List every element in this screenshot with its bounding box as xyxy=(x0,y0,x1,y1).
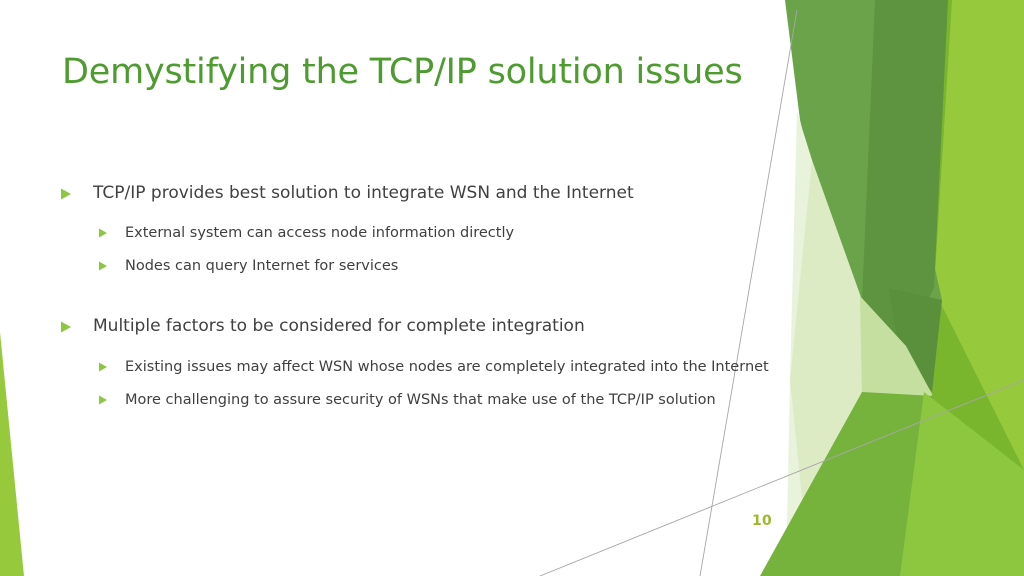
spacer xyxy=(60,211,772,223)
facet-shape-right-green xyxy=(872,0,1024,576)
spacer xyxy=(60,345,772,357)
triangle-bullet-icon xyxy=(60,315,80,333)
triangle-bullet-icon xyxy=(98,256,114,271)
triangle-bullet-icon xyxy=(98,223,114,238)
bullet-level2: Existing issues may affect WSN whose nod… xyxy=(60,357,772,378)
facet-shape-left-sliver xyxy=(0,332,24,576)
facet-shape-dark-band xyxy=(785,0,942,430)
triangle-bullet-icon xyxy=(98,357,114,372)
facet-shape-right-lime xyxy=(882,0,1024,576)
bullet-level2: Nodes can query Internet for services xyxy=(60,256,772,277)
presentation-slide: Demystifying the TCP/IP solution issues … xyxy=(0,0,1024,576)
facet-shape-deep-green-lower xyxy=(888,288,942,392)
facet-shape-pale-mid xyxy=(846,296,932,576)
spacer xyxy=(60,382,772,390)
triangle-bullet-icon xyxy=(98,390,114,405)
bullet-level2-text: More challenging to assure security of W… xyxy=(114,390,772,411)
bullet-level1-text: TCP/IP provides best solution to integra… xyxy=(80,182,772,205)
slide-body: TCP/IP provides best solution to integra… xyxy=(60,182,772,415)
slide-number: 10 xyxy=(752,513,772,529)
triangle-bullet-icon xyxy=(60,182,80,200)
bullet-level2: More challenging to assure security of W… xyxy=(60,390,772,411)
facet-shape-mid-green-sweep xyxy=(760,392,940,576)
bullet-level1: Multiple factors to be considered for co… xyxy=(60,315,772,338)
bullet-level1-text: Multiple factors to be considered for co… xyxy=(80,315,772,338)
bullet-level1: TCP/IP provides best solution to integra… xyxy=(60,182,772,205)
bullet-level2: External system can access node informat… xyxy=(60,223,772,244)
bullet-level2-text: Existing issues may affect WSN whose nod… xyxy=(114,357,772,378)
spacer xyxy=(60,281,772,315)
facet-shape-palest-sliver xyxy=(786,112,840,576)
facet-shape-pale-band xyxy=(790,160,900,576)
slide-title: Demystifying the TCP/IP solution issues xyxy=(62,52,762,92)
spacer xyxy=(60,248,772,256)
facet-shape-deep-green xyxy=(862,0,948,352)
facet-shape-lime-bottom xyxy=(900,392,1024,576)
bullet-level2-text: External system can access node informat… xyxy=(114,223,772,244)
bullet-level2-text: Nodes can query Internet for services xyxy=(114,256,772,277)
